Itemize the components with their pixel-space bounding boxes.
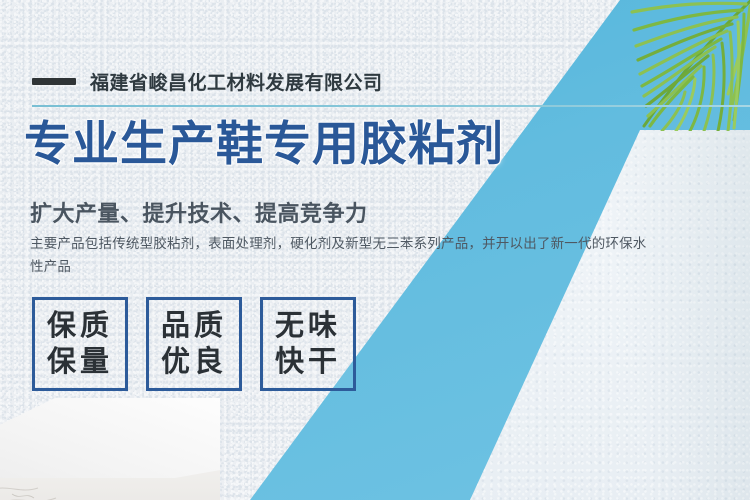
feature-box: 保质 保量 <box>32 297 128 391</box>
divider-rule <box>32 105 750 107</box>
company-name: 福建省峻昌化工材料发展有限公司 <box>90 68 383 95</box>
banner-content: 福建省峻昌化工材料发展有限公司 专业生产鞋专用胶粘剂 扩大产量、提升技术、提高竞… <box>0 0 750 500</box>
description-paragraph: 主要产品包括传统型胶粘剂，表面处理剂，硬化剂及新型无三苯系列产品，并开以出了新一… <box>30 233 650 279</box>
feature-line-1: 保质 <box>47 307 113 343</box>
headline: 专业生产鞋专用胶粘剂 <box>24 121 504 168</box>
feature-line-2: 快干 <box>275 343 341 379</box>
feature-line-1: 品质 <box>161 307 227 343</box>
feature-line-2: 优良 <box>161 343 227 379</box>
feature-box-group: 保质 保量 品质 优良 无味 快干 <box>32 297 356 391</box>
feature-box: 无味 快干 <box>260 297 356 391</box>
dash-marker-icon <box>32 78 76 85</box>
feature-line-2: 保量 <box>47 343 113 379</box>
feature-line-1: 无味 <box>275 307 341 343</box>
feature-box: 品质 优良 <box>146 297 242 391</box>
subtitle: 扩大产量、提升技术、提高竞争力 <box>30 196 368 228</box>
promo-banner: 福建省峻昌化工材料发展有限公司 专业生产鞋专用胶粘剂 扩大产量、提升技术、提高竞… <box>0 0 750 500</box>
company-row: 福建省峻昌化工材料发展有限公司 <box>32 68 383 95</box>
